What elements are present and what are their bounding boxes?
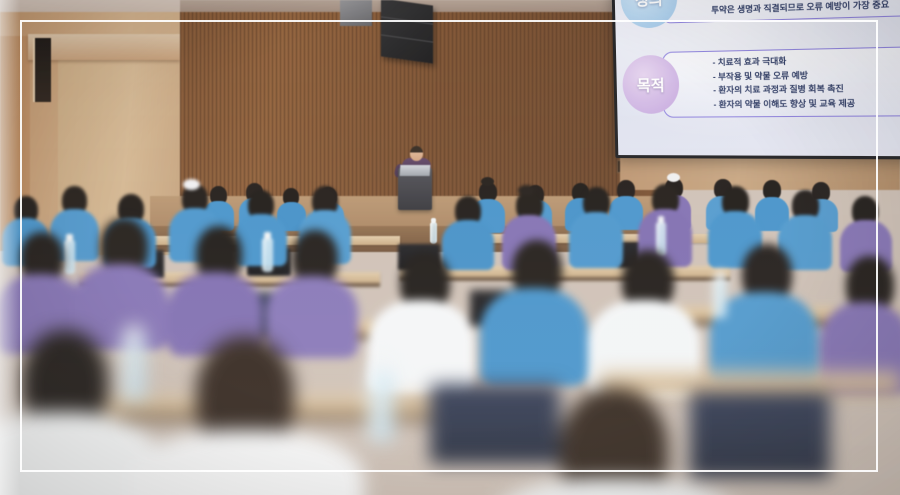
audience-foreground (0, 0, 900, 495)
lecture-hall-photo: 용어 정리 정의 환자에게 의사의 처방에 따라 약물을 안전하게 준비·투여·… (0, 0, 900, 495)
bottle-cap (372, 358, 389, 371)
desk (600, 372, 900, 394)
water-bottle (122, 336, 146, 402)
attendee-body (490, 478, 740, 495)
attendee-body (128, 430, 364, 495)
lecture-chair (430, 384, 560, 464)
lecture-chair (690, 392, 830, 478)
bottle-cap (126, 326, 142, 338)
water-bottle (368, 370, 394, 442)
